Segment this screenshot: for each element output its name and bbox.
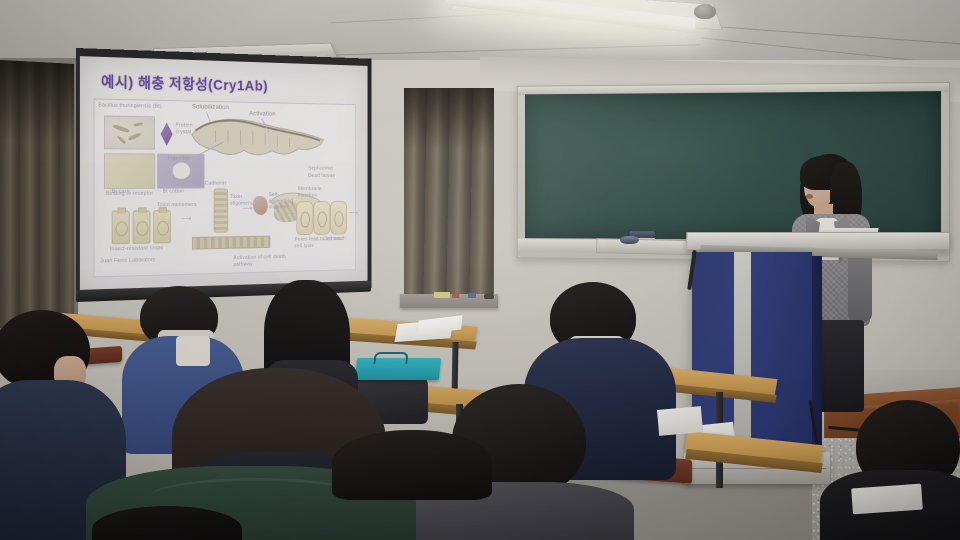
crop-bottle <box>153 210 171 243</box>
diagram-label-insect-resistant-crops: Insect-resistant crops <box>110 245 163 252</box>
arrow-icon: ⟶ <box>349 208 358 216</box>
micrograph-bt <box>104 115 155 149</box>
diagram-label-septicemia: Septicemia <box>308 166 333 172</box>
folder-handle <box>373 352 408 364</box>
ledge-object <box>452 293 459 298</box>
lecture-hall-photo: 예시) 해충 저항성(Cry1Ab) Bacillus thuringiensi… <box>0 0 960 540</box>
curtain-shadow <box>0 60 74 144</box>
toxin-blob <box>253 196 268 215</box>
slide-diagram-frame: Bacillus thuringiensis (Bt) Bt corn Bt c… <box>93 98 356 277</box>
membrane-illustration <box>192 236 270 250</box>
student-center-back <box>332 430 492 500</box>
diagram-label-toxin-monomers: Toxin monomers <box>157 202 197 208</box>
paper-sheet <box>657 406 703 436</box>
diagram-label-lab-credit: Juan Ferre Laboratory <box>100 257 157 265</box>
diagram-label-bt-cotton: Bt cotton <box>163 189 185 195</box>
protein-crystal-icon <box>161 122 173 146</box>
ledge-object <box>468 293 476 298</box>
mouse-icon <box>620 236 639 244</box>
curtain-shadow <box>404 88 494 150</box>
arrow-icon: ⟶ <box>242 204 252 213</box>
diagram-label-source: Bacillus thuringiensis (Bt) <box>98 102 161 109</box>
projection-screen: 예시) 해충 저항성(Cry1Ab) Bacillus thuringiensi… <box>76 48 371 306</box>
crop-bottle <box>112 210 130 244</box>
student-shirt <box>176 336 210 366</box>
screen-edge <box>368 59 372 288</box>
smoke-detector-icon <box>694 4 716 19</box>
arrow-icon: ⟶ <box>181 214 191 223</box>
ledge-object <box>484 294 494 299</box>
blackboard-glare <box>525 91 941 241</box>
arrow-icon: ⟶ <box>288 209 298 218</box>
slide-surface: 예시) 해충 저항성(Cry1Ab) Bacillus thuringiensi… <box>80 56 368 290</box>
slide-title: 예시) 해충 저항성(Cry1Ab) <box>101 71 268 96</box>
presenter-mouth <box>806 194 813 199</box>
micrograph-bt-corn <box>104 153 155 189</box>
diagram-label-cell-death: Cell death <box>323 236 345 242</box>
diagram-label-dead-larvae: Dead larvae <box>308 173 335 179</box>
diagram-label-solubilization: Solubilization <box>192 103 229 110</box>
paper-sheet <box>851 484 923 515</box>
toxin-oligomer-column <box>214 188 228 232</box>
podium-stripe <box>734 252 751 456</box>
diagram-label-cell-death-pathway: Activation of cell death pathway <box>233 254 291 268</box>
crop-bottle <box>133 210 151 244</box>
diagram-label-membrane-insertion: Membrane insertion <box>298 186 323 198</box>
diagram-label-cadherin: Cadherin <box>205 181 227 187</box>
diagram-label-activation: Activation <box>249 110 275 117</box>
ledge-object <box>434 292 450 298</box>
cell-icon <box>330 201 347 235</box>
diagram-label-binding-receptor: Binding to receptor <box>106 191 153 197</box>
cell-icon <box>296 201 313 235</box>
